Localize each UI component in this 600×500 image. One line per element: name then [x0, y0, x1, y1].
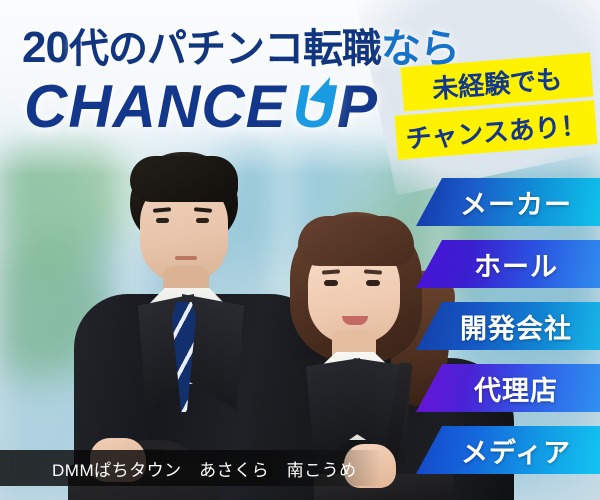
promo-badge: 未経験でも チャンスあり！: [396, 52, 600, 164]
female-eye-left: [324, 280, 338, 286]
category-label: 開発会社: [416, 307, 600, 346]
category-button-agency[interactable]: 代理店: [416, 364, 600, 412]
logo-letter-p: P: [337, 73, 378, 140]
category-label: 代理店: [416, 369, 600, 408]
category-list: メーカー ホール 開発会社 代理店 メディア: [416, 178, 600, 488]
credits-text: DMMぱちタウン あさくら 南こうめ: [0, 456, 357, 481]
category-button-maker[interactable]: メーカー: [416, 178, 600, 226]
category-button-development-company[interactable]: 開発会社: [416, 302, 600, 350]
category-label: メディア: [416, 431, 600, 470]
category-label: ホール: [416, 245, 600, 284]
category-button-hall[interactable]: ホール: [416, 240, 600, 288]
category-label: メーカー: [416, 183, 600, 222]
logo-letter-u: U: [287, 72, 337, 141]
brand-logo: CHANCEUP: [24, 72, 378, 141]
male-eye-right: [196, 218, 209, 223]
logo-word-chance: CHANCE: [24, 73, 287, 140]
category-button-media[interactable]: メディア: [416, 426, 600, 474]
female-eye-right: [366, 280, 380, 286]
female-fringe: [298, 216, 414, 266]
headline-main: 代のパチンコ転職: [69, 27, 381, 71]
male-mouth: [175, 256, 197, 260]
credits-bar: DMMぱちタウン あさくら 南こうめ: [0, 450, 382, 486]
male-fringe: [130, 156, 238, 202]
headline: 20代のパチンコ転職なら: [22, 16, 459, 74]
headline-number: 20: [22, 23, 69, 72]
advertisement-banner[interactable]: 20代のパチンコ転職なら CHANCEUP 未経験でも チャンスあり！ メーカー…: [0, 0, 600, 500]
male-eye-left: [156, 218, 169, 223]
